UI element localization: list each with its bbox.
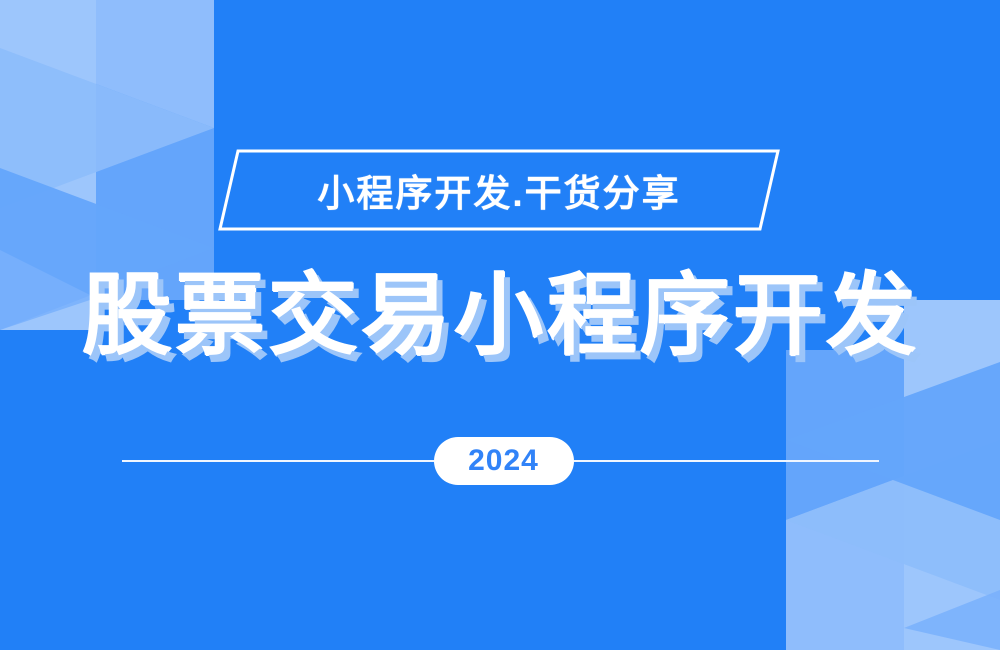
left-mid-column bbox=[96, 0, 214, 300]
title-container: 股票交易小程序开发 bbox=[0, 264, 1000, 368]
banner-title: 股票交易小程序开发 bbox=[82, 271, 919, 361]
right-mid-column bbox=[786, 350, 904, 650]
year-row: 2024 bbox=[0, 437, 1000, 485]
left-chevron-upper bbox=[0, 0, 214, 128]
banner-subtitle: 小程序开发.干货分享 bbox=[218, 149, 780, 231]
year-badge: 2024 bbox=[434, 437, 574, 485]
divider-line-right bbox=[574, 460, 879, 462]
left-chevron-core bbox=[0, 48, 214, 208]
divider-line-left bbox=[122, 460, 434, 462]
right-lower-triangle bbox=[904, 590, 1000, 650]
promo-banner: 小程序开发.干货分享 股票交易小程序开发 2024 bbox=[0, 0, 1000, 650]
